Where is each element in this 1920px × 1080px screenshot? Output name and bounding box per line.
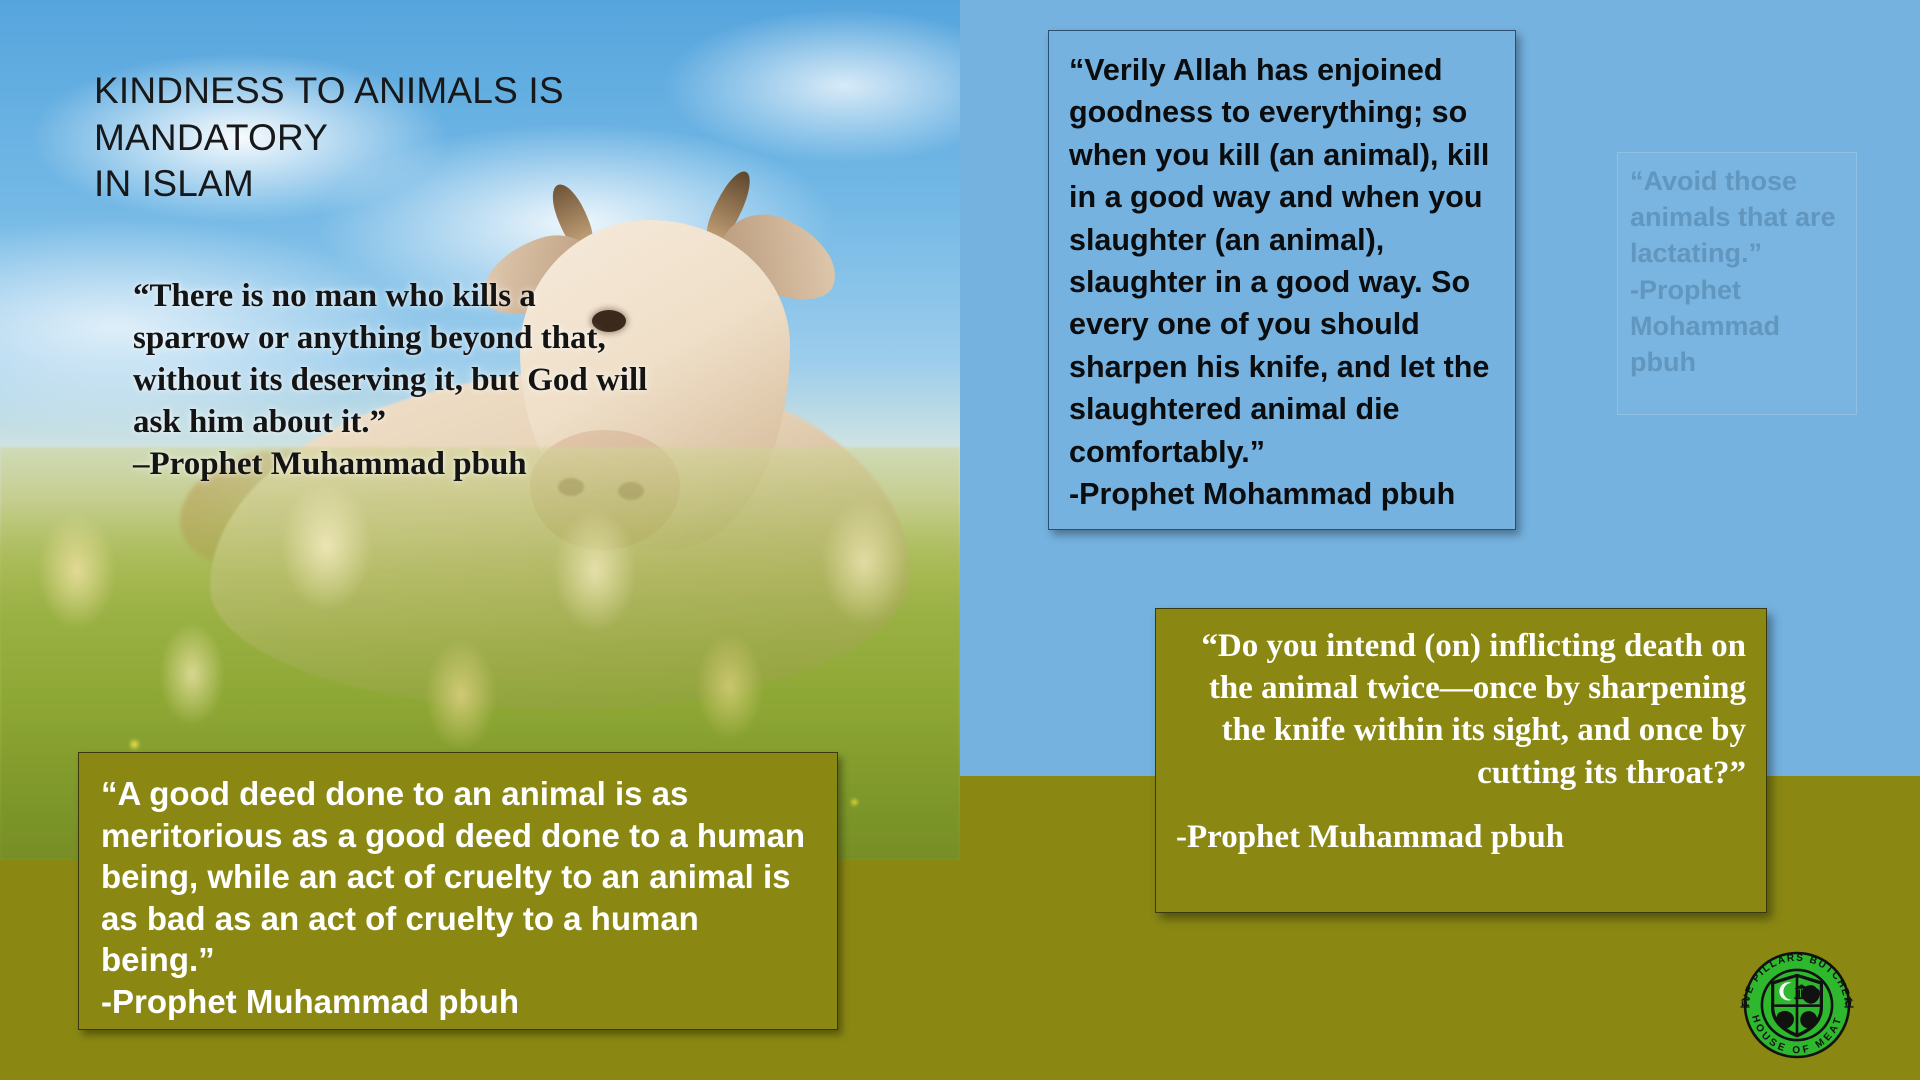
slide-canvas: KINDNESS TO ANIMALS IS MANDATORY IN ISLA… <box>0 0 1920 1080</box>
quote-inflicting-death-text: “Do you intend (on) inflicting death on … <box>1201 628 1746 791</box>
quote-lactating-box: “Avoid those animals that are lactating.… <box>1617 152 1857 415</box>
quote-lactating-attribution: -Prophet Mohammad pbuh <box>1630 272 1844 381</box>
page-title-line-2: MANDATORY <box>94 115 714 162</box>
quote-good-deed-attribution: -Prophet Muhammad pbuh <box>101 981 811 1023</box>
quote-verily-allah-attribution: -Prophet Mohammad pbuh <box>1069 473 1497 515</box>
quote-verily-allah-box: “Verily Allah has enjoined goodness to e… <box>1048 30 1516 530</box>
five-pillars-butchery-logo: FIVE PILLARS BUTCHERY HOUSE OF MEAT <box>1722 940 1872 1070</box>
quote-sparrow-attribution: –Prophet Muhammad pbuh <box>133 444 653 486</box>
page-title: KINDNESS TO ANIMALS IS MANDATORY IN ISLA… <box>94 68 714 208</box>
quote-inflicting-death-box: “Do you intend (on) inflicting death on … <box>1155 608 1767 913</box>
quote-sparrow-text: “There is no man who kills a sparrow or … <box>133 278 647 440</box>
page-title-line-1: KINDNESS TO ANIMALS IS <box>94 68 714 115</box>
quote-lactating-text: “Avoid those animals that are lactating.… <box>1630 166 1836 268</box>
page-title-line-3: IN ISLAM <box>94 161 714 208</box>
quote-good-deed-box: “A good deed done to an animal is as mer… <box>78 752 838 1030</box>
quote-good-deed-text: “A good deed done to an animal is as mer… <box>101 775 805 978</box>
quote-verily-allah-text: “Verily Allah has enjoined goodness to e… <box>1069 53 1489 469</box>
quote-inflicting-death-attribution: -Prophet Muhammad pbuh <box>1176 816 1746 858</box>
quote-sparrow: “There is no man who kills a sparrow or … <box>133 276 653 486</box>
